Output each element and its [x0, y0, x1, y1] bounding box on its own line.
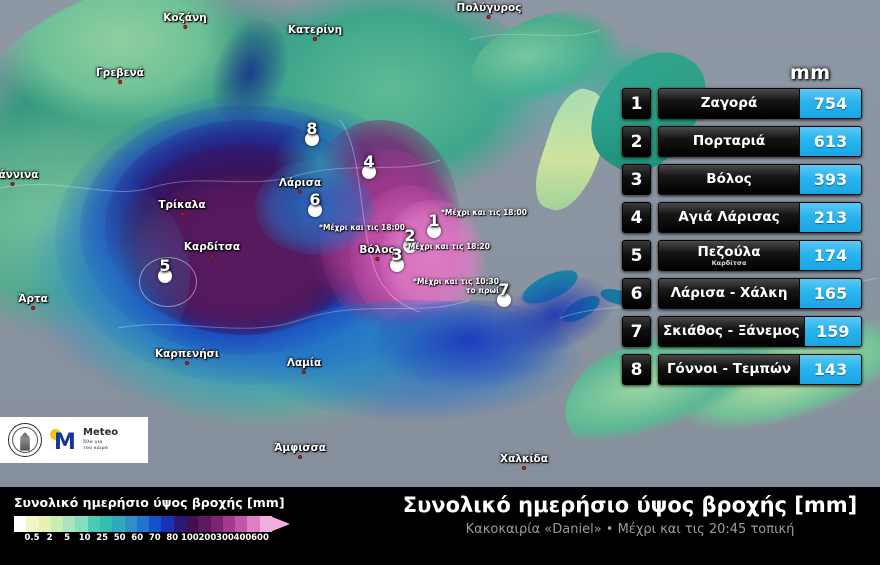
city-dot-icon — [210, 254, 214, 258]
station-marker-8[interactable]: 8 — [305, 132, 319, 146]
city-label: Άμφισσα — [274, 442, 326, 459]
colorbar-swatch — [211, 516, 223, 532]
colorbar-tick: 10 — [79, 533, 91, 543]
station-note: *Μέχρι και τις 18:00 — [441, 208, 527, 217]
station-number: 5 — [159, 258, 170, 274]
ranking-body: Αγιά Λάρισας213 — [658, 202, 862, 233]
city-dot-icon — [298, 190, 302, 194]
colorbar-swatch — [26, 516, 38, 532]
ranking-row[interactable]: 4Αγιά Λάρισας213 — [622, 202, 862, 233]
city-dot-icon — [185, 361, 189, 365]
ranking-value: 754 — [799, 89, 861, 118]
colorbar-tick: 25 — [96, 533, 108, 543]
city-dot-icon — [487, 15, 491, 19]
colorbar-tick: 70 — [149, 533, 161, 543]
city-dot-icon — [313, 37, 317, 41]
city-label: Καρπενήσι — [155, 348, 219, 365]
station-number: 8 — [306, 121, 317, 137]
ranking-body: Βόλος393 — [658, 164, 862, 195]
colorbar-tick: 200 — [199, 533, 217, 543]
colorbar-tick-labels: 0.525102550607080100200300400600 — [14, 533, 290, 547]
colorbar-swatch — [14, 516, 26, 532]
station-marker-3[interactable]: 3*Μέχρι και τις 18:20 — [390, 258, 404, 272]
city-dot-icon — [180, 212, 184, 216]
meteo-tagline-text: Όλα για τον καιρό — [83, 440, 118, 451]
station-marker-1[interactable]: 1*Μέχρι και τις 18:00 — [427, 224, 441, 238]
colorbar-tick: 60 — [131, 533, 143, 543]
city-dot-icon — [31, 306, 35, 310]
ranking-rank: 3 — [622, 164, 651, 195]
ranking-value: 165 — [799, 279, 861, 308]
ranking-body: Σκιάθος - Ξάνεμος159 — [658, 316, 862, 347]
city-dot-icon — [118, 80, 122, 84]
city-label: Κοζάνη — [163, 12, 206, 29]
ranking-station-name: Βόλος — [659, 165, 799, 194]
footer-title-block: Συνολικό ημερήσιο ύψος βροχής [mm] Κακοκ… — [390, 493, 870, 537]
colorbar-swatch — [223, 516, 235, 532]
ranking-value: 143 — [799, 355, 861, 384]
city-dot-icon — [183, 25, 187, 29]
city-label: Κατερίνη — [288, 24, 342, 41]
meteo-brand-text: Meteo — [83, 428, 118, 438]
ranking-rank: 2 — [622, 126, 651, 157]
weather-map-screenshot: ΚοζάνηΚατερίνηΠολύγυροςΓρεβενάΛάρισαΤρίκ… — [0, 0, 880, 565]
colorbar-tick: 0.5 — [24, 533, 39, 543]
meteo-sun-m-icon: M — [50, 427, 80, 453]
colorbar-tick: 50 — [114, 533, 126, 543]
city-dot-icon — [302, 370, 306, 374]
colorbar — [14, 516, 290, 532]
station-marker-4[interactable]: 4 — [362, 165, 376, 179]
footer-title: Συνολικό ημερήσιο ύψος βροχής [mm] — [390, 493, 870, 518]
ranking-rank: 8 — [622, 354, 651, 385]
city-dot-icon — [10, 182, 14, 186]
city-dot-icon — [522, 466, 526, 470]
ranking-value: 174 — [799, 241, 861, 270]
ranking-rank: 5 — [622, 240, 651, 271]
colorbar-arrow-icon — [270, 516, 290, 532]
ranking-row[interactable]: 8Γόννοι - Τεμπών143 — [622, 354, 862, 385]
ranking-value: 213 — [799, 203, 861, 232]
legend-title: Συνολικό ημερήσιο ύψος βροχής [mm] — [14, 495, 304, 510]
legend: Συνολικό ημερήσιο ύψος βροχής [mm] 0.525… — [14, 495, 304, 547]
station-marker-7[interactable]: 7*Μέχρι και τις 10:30 το πρωί — [497, 293, 511, 307]
station-note: *Μέχρι και τις 18:00 — [319, 223, 405, 232]
city-dot-icon — [298, 455, 302, 459]
ranking-body: Γόννοι - Τεμπών143 — [658, 354, 862, 385]
ranking-station-name: Λάρισα - Χάλκη — [659, 279, 799, 308]
city-label: Καρδίτσα — [184, 241, 240, 258]
ranking-row[interactable]: 2Πορταριά613 — [622, 126, 862, 157]
ranking-station-name: Πορταριά — [659, 127, 799, 156]
station-marker-5[interactable]: 5 — [158, 269, 172, 283]
colorbar-swatch — [125, 516, 137, 532]
ranking-table[interactable]: 1Ζαγορά7542Πορταριά6133Βόλος3934Αγιά Λάρ… — [622, 88, 862, 392]
ranking-rank: 1 — [622, 88, 651, 119]
colorbar-swatch — [51, 516, 63, 532]
ranking-rank: 6 — [622, 278, 651, 309]
ranking-station-name: Σκιάθος - Ξάνεμος — [659, 317, 804, 346]
ranking-row[interactable]: 6Λάρισα - Χάλκη165 — [622, 278, 862, 309]
logo-bar: M Meteo Όλα για τον καιρό — [0, 417, 148, 463]
ranking-rank: 4 — [622, 202, 651, 233]
colorbar-tick: 600 — [251, 533, 269, 543]
ranking-station-name: Ζαγορά — [659, 89, 799, 118]
ranking-value: 393 — [799, 165, 861, 194]
ranking-body: Λάρισα - Χάλκη165 — [658, 278, 862, 309]
station-number: 1 — [428, 213, 439, 229]
colorbar-swatch — [137, 516, 149, 532]
colorbar-swatch — [235, 516, 247, 532]
station-note: *Μέχρι και τις 18:20 — [404, 242, 490, 251]
ranking-rank: 7 — [622, 316, 651, 347]
colorbar-gradient — [14, 516, 272, 532]
colorbar-swatch — [161, 516, 173, 532]
ranking-row[interactable]: 3Βόλος393 — [622, 164, 862, 195]
ranking-value: 159 — [804, 317, 861, 346]
colorbar-swatch — [100, 516, 112, 532]
ranking-station-name: ΠεζούλαΚαρδίτσα — [659, 241, 799, 270]
ranking-value: 613 — [799, 127, 861, 156]
station-number: 3 — [391, 247, 402, 263]
colorbar-swatch — [186, 516, 198, 532]
colorbar-tick: 5 — [64, 533, 70, 543]
colorbar-tick: 300 — [216, 533, 234, 543]
ranking-row[interactable]: 1Ζαγορά754 — [622, 88, 862, 119]
ranking-body: Πορταριά613 — [658, 126, 862, 157]
city-label: Γρεβενά — [96, 67, 144, 84]
colorbar-tick: 80 — [166, 533, 178, 543]
rainfall-map[interactable]: ΚοζάνηΚατερίνηΠολύγυροςΓρεβενάΛάρισαΤρίκ… — [0, 0, 880, 487]
colorbar-swatch — [198, 516, 210, 532]
colorbar-swatch — [88, 516, 100, 532]
city-label: Λαμία — [287, 357, 321, 374]
ranking-row[interactable]: 7Σκιάθος - Ξάνεμος159 — [622, 316, 862, 347]
colorbar-swatch — [63, 516, 75, 532]
city-label: Άρτα — [18, 293, 48, 310]
city-dot-icon — [375, 257, 379, 261]
meteo-logo: M Meteo Όλα για τον καιρό — [50, 427, 118, 453]
colorbar-swatch — [149, 516, 161, 532]
city-label: Πολύγυρος — [457, 2, 522, 19]
ranking-station-name: Αγιά Λάρισας — [659, 203, 799, 232]
city-label: Χαλκίδα — [500, 453, 548, 470]
ranking-station-name: Γόννοι - Τεμπών — [659, 355, 799, 384]
noa-seal-icon — [8, 423, 42, 457]
colorbar-swatch — [75, 516, 87, 532]
colorbar-swatch — [112, 516, 124, 532]
colorbar-tick: 2 — [47, 533, 53, 543]
station-number: 4 — [363, 154, 374, 170]
colorbar-swatch — [39, 516, 51, 532]
ranking-row[interactable]: 5ΠεζούλαΚαρδίτσα174 — [622, 240, 862, 271]
colorbar-tick: 400 — [234, 533, 252, 543]
station-number: 7 — [498, 282, 509, 298]
city-label: Ιωάννινα — [0, 169, 39, 186]
footer-bar: Συνολικό ημερήσιο ύψος βροχής [mm] 0.525… — [0, 487, 880, 565]
ranking-body: Ζαγορά754 — [658, 88, 862, 119]
colorbar-tick: 100 — [181, 533, 199, 543]
colorbar-swatch — [174, 516, 186, 532]
colorbar-swatch — [247, 516, 259, 532]
unit-header: mm — [790, 62, 831, 84]
footer-subtitle: Κακοκαιρία «Daniel» • Μέχρι και τις 20:4… — [390, 522, 870, 537]
city-label: Τρίκαλα — [158, 199, 205, 216]
ranking-body: ΠεζούλαΚαρδίτσα174 — [658, 240, 862, 271]
station-marker-6[interactable]: 6 — [308, 203, 322, 217]
station-note: *Μέχρι και τις 10:30 το πρωί — [413, 277, 499, 295]
station-number: 6 — [309, 192, 320, 208]
